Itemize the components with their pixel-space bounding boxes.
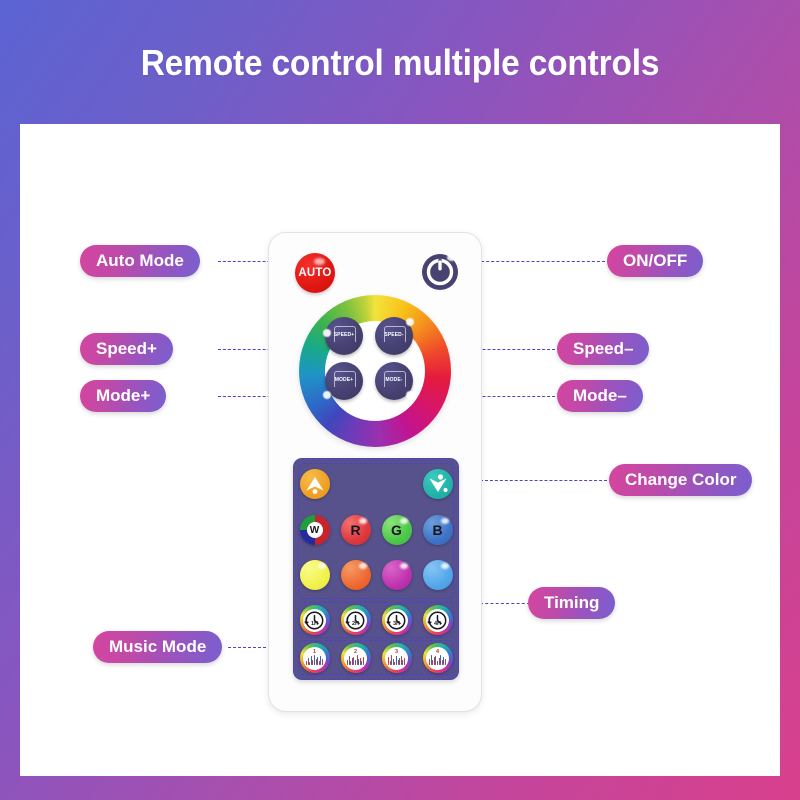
equalizer-icon [388,654,405,665]
auto-button-gloss [314,258,325,265]
mode-down-button[interactable]: MODE- [375,362,413,400]
brightness-row [294,469,458,499]
equalizer-icon [347,654,364,665]
mode-down-label: MODE- [375,377,413,383]
power-button[interactable] [421,253,459,291]
music-mode-4-button[interactable]: 4 [423,643,453,673]
mode-up-button[interactable]: MODE+ [325,362,363,400]
timer-3h-face: 3H [385,609,408,632]
speed-up-button[interactable]: SPEED+ [325,317,363,355]
mode-up-label: MODE+ [325,377,363,383]
callout-timing[interactable]: Timing [528,587,615,619]
brightness-up-button[interactable] [300,469,330,499]
timer-2h-label: 2H [344,621,367,627]
callout-mode-down[interactable]: Mode– [557,380,643,412]
callout-on-off[interactable]: ON/OFF [607,245,703,277]
poster-root: Remote control multiple controls AUTO [0,0,800,800]
music-mode-3-button[interactable]: 3 [382,643,412,673]
callout-speed-down[interactable]: Speed– [557,333,649,365]
timer-3h-button[interactable]: 3H [382,605,412,635]
auto-button[interactable]: AUTO [295,253,335,293]
timer-1h-face: 1H [303,609,326,632]
brightness-down-button[interactable] [423,469,453,499]
timing-row: 1H 2H [294,605,458,635]
white-color-label: W [307,522,323,538]
yellow-button-gloss [318,563,326,569]
callout-change-color[interactable]: Change Color [609,464,752,496]
yellow-color-button[interactable] [300,560,330,590]
callout-change-color-label: Change Color [625,470,736,490]
lightblue-color-button[interactable] [423,560,453,590]
mode-down-gloss [406,391,414,399]
timer-2h-face: 2H [344,609,367,632]
white-color-button[interactable]: W [300,515,330,545]
timer-1h-label: 1H [303,621,326,627]
music-mode-4-face: 4 [426,647,449,670]
callout-auto-mode-label: Auto Mode [96,251,184,271]
timer-4h-button[interactable]: 4H [423,605,453,635]
magenta-color-button[interactable] [382,560,412,590]
connector-change-color [480,480,612,481]
magenta-button-gloss [400,563,408,569]
brightness-up-icon [300,469,330,499]
power-button-gloss [447,254,456,261]
callout-music-mode-label: Music Mode [109,637,206,657]
callout-speed-down-label: Speed– [573,339,633,359]
blue-color-button[interactable]: B [423,515,453,545]
brightness-down-icon [423,469,453,499]
music-mode-2-face: 2 [344,647,367,670]
timer-1h-button[interactable]: 1H [300,605,330,635]
orange-button-gloss [359,563,367,569]
connector-timing [480,603,530,604]
music-mode-1-face: 1 [303,647,326,670]
brightness-row-spacer-b [382,469,412,499]
callout-timing-label: Timing [544,593,599,613]
auto-button-label: AUTO [298,267,331,279]
callout-auto-mode[interactable]: Auto Mode [80,245,200,277]
timer-2h-button[interactable]: 2H [341,605,371,635]
callout-mode-down-label: Mode– [573,386,627,406]
music-mode-1-button[interactable]: 1 [300,643,330,673]
green-color-label: G [382,515,412,545]
speed-down-gloss [406,318,414,326]
timer-3h-label: 3H [385,621,408,627]
preset-color-row [294,560,458,590]
red-color-button[interactable]: R [341,515,371,545]
equalizer-icon [429,654,446,665]
music-mode-2-button[interactable]: 2 [341,643,371,673]
timer-4h-face: 4H [426,609,449,632]
orange-color-button[interactable] [341,560,371,590]
callout-speed-up-label: Speed+ [96,339,157,359]
equalizer-icon [306,654,323,665]
callout-mode-up[interactable]: Mode+ [80,380,166,412]
lightblue-button-gloss [441,563,449,569]
callout-on-off-label: ON/OFF [623,251,687,271]
brightness-row-spacer-a [341,469,371,499]
green-color-button[interactable]: G [382,515,412,545]
mode-up-gloss [323,391,331,399]
blue-color-label: B [423,515,453,545]
color-wheel[interactable] [299,295,451,447]
speed-up-gloss [323,329,331,337]
speed-down-button[interactable]: SPEED- [375,317,413,355]
callout-speed-up[interactable]: Speed+ [80,333,173,365]
callout-mode-up-label: Mode+ [96,386,150,406]
music-mode-3-face: 3 [385,647,408,670]
timer-4h-label: 4H [426,621,449,627]
rgbw-row: W R G B [294,515,458,545]
callout-music-mode[interactable]: Music Mode [93,631,222,663]
keypad-panel: W R G B [293,458,459,680]
page-title: Remote control multiple controls [28,42,772,84]
remote-control-body: AUTO SPEED+ SPEED- M [268,232,482,712]
red-color-label: R [341,515,371,545]
music-row: 1 2 [294,643,458,673]
speed-down-label: SPEED- [375,332,413,338]
